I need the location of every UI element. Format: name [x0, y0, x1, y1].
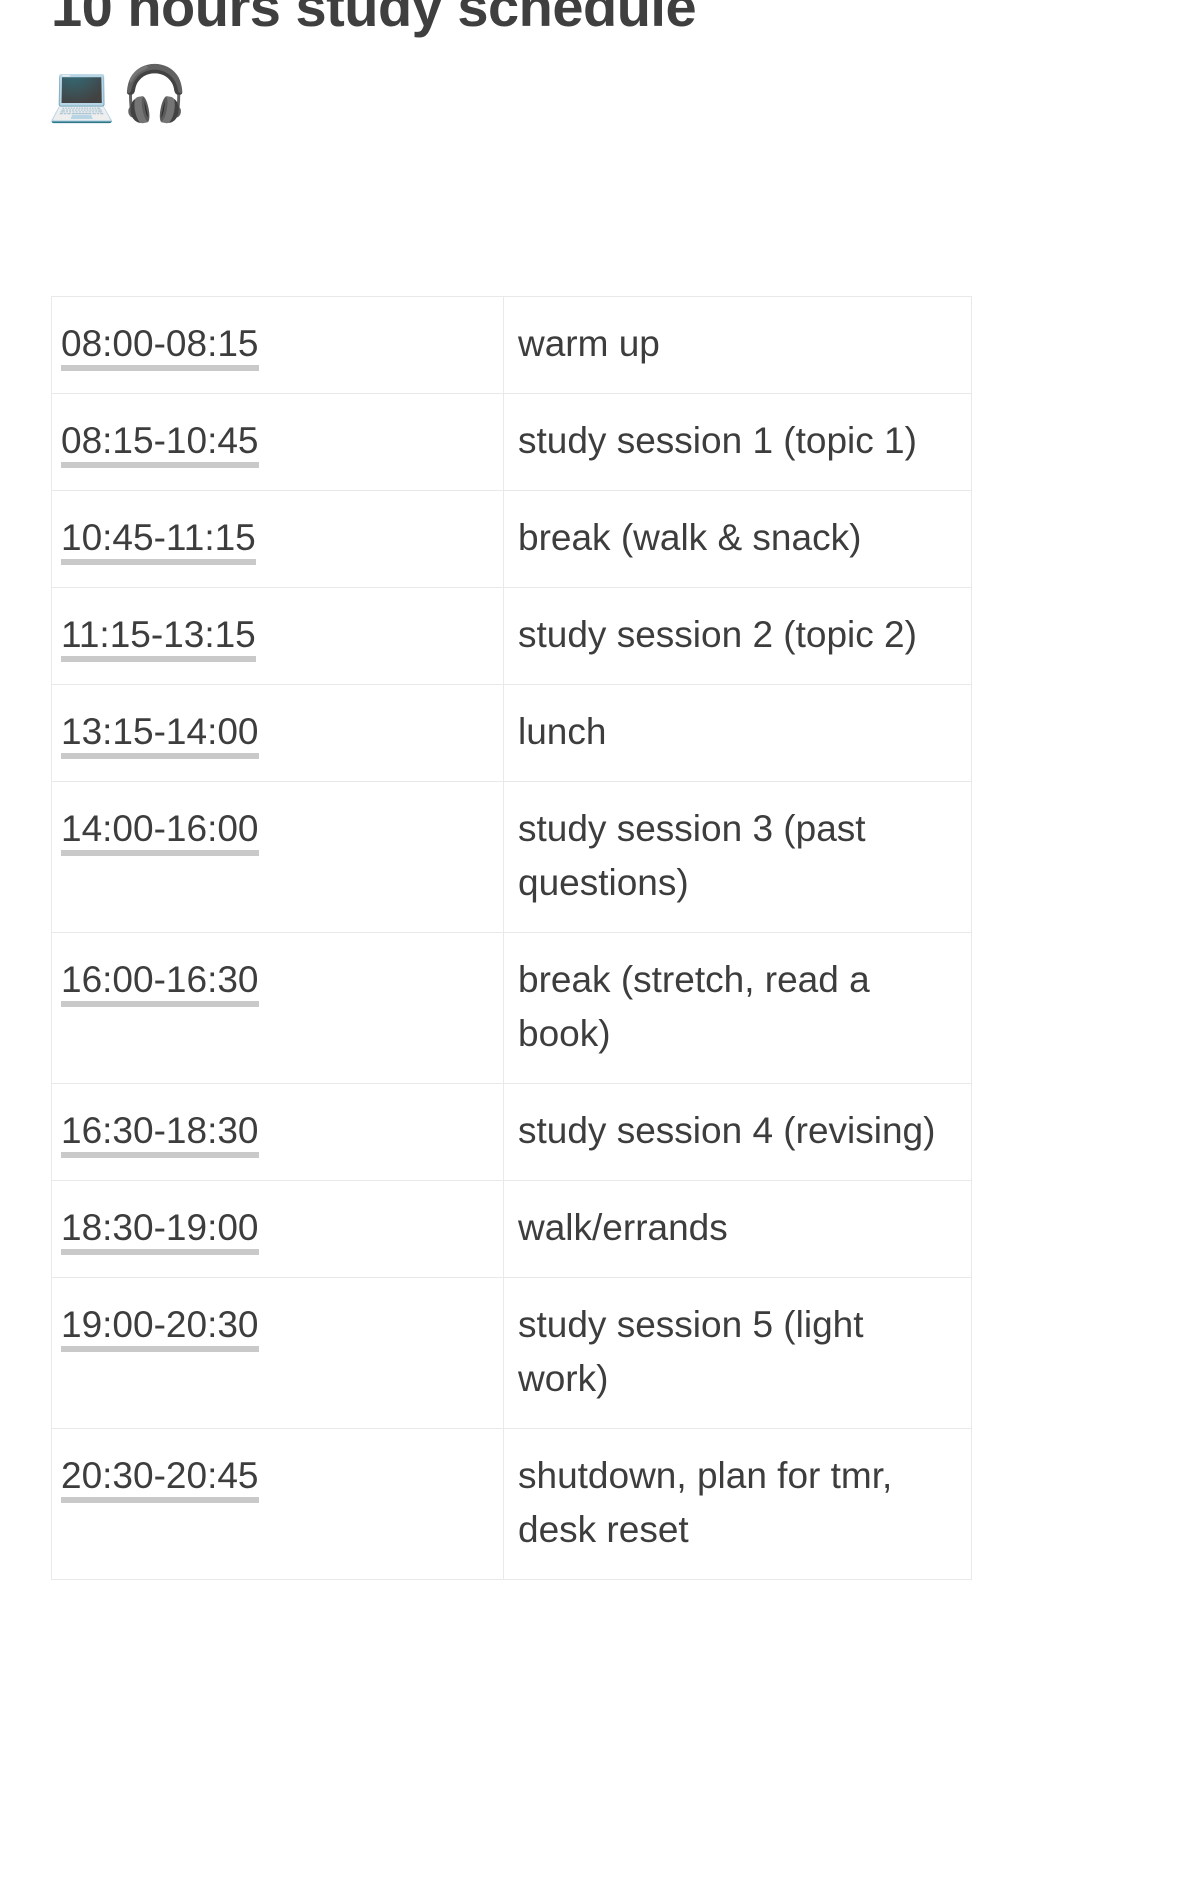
- schedule-time-label: 16:30-18:30: [61, 1110, 259, 1158]
- table-row: 18:30-19:00walk/errands: [52, 1181, 972, 1278]
- schedule-time-label: 16:00-16:30: [61, 959, 259, 1007]
- schedule-activity-cell: study session 1 (topic 1): [504, 394, 972, 491]
- schedule-time-label: 20:30-20:45: [61, 1455, 259, 1503]
- schedule-time-label: 13:15-14:00: [61, 711, 259, 759]
- table-row: 16:30-18:30study session 4 (revising): [52, 1084, 972, 1181]
- schedule-time-cell: 16:30-18:30: [52, 1084, 504, 1181]
- schedule-time-label: 10:45-11:15: [61, 517, 256, 565]
- table-row: 08:15-10:45study session 1 (topic 1): [52, 394, 972, 491]
- schedule-activity-cell: study session 2 (topic 2): [504, 588, 972, 685]
- page-title: 10 hours study schedule: [51, 0, 696, 39]
- table-row: 16:00-16:30break (stretch, read a book): [52, 933, 972, 1084]
- schedule-table-wrap: 08:00-08:15warm up08:15-10:45study sessi…: [51, 296, 971, 1580]
- schedule-activity-cell: study session 5 (light work): [504, 1278, 972, 1429]
- schedule-time-cell: 19:00-20:30: [52, 1278, 504, 1429]
- schedule-time-cell: 18:30-19:00: [52, 1181, 504, 1278]
- schedule-activity-cell: break (walk & snack): [504, 491, 972, 588]
- table-row: 14:00-16:00study session 3 (past questio…: [52, 782, 972, 933]
- schedule-time-label: 19:00-20:30: [61, 1304, 259, 1352]
- schedule-time-cell: 10:45-11:15: [52, 491, 504, 588]
- schedule-time-label: 14:00-16:00: [61, 808, 259, 856]
- table-row: 19:00-20:30study session 5 (light work): [52, 1278, 972, 1429]
- schedule-activity-cell: shutdown, plan for tmr, desk reset: [504, 1429, 972, 1580]
- table-row: 13:15-14:00lunch: [52, 685, 972, 782]
- schedule-activity-cell: break (stretch, read a book): [504, 933, 972, 1084]
- schedule-activity-label: shutdown, plan for tmr, desk reset: [518, 1449, 961, 1557]
- schedule-time-cell: 16:00-16:30: [52, 933, 504, 1084]
- schedule-activity-cell: walk/errands: [504, 1181, 972, 1278]
- schedule-time-cell: 08:15-10:45: [52, 394, 504, 491]
- schedule-activity-label: walk/errands: [518, 1201, 961, 1255]
- schedule-activity-label: break (walk & snack): [518, 511, 961, 565]
- table-row: 11:15-13:15study session 2 (topic 2): [52, 588, 972, 685]
- schedule-time-cell: 08:00-08:15: [52, 297, 504, 394]
- emoji-row: 💻🎧: [48, 62, 195, 126]
- schedule-activity-label: study session 1 (topic 1): [518, 414, 961, 468]
- table-row: 10:45-11:15break (walk & snack): [52, 491, 972, 588]
- schedule-activity-label: lunch: [518, 705, 961, 759]
- schedule-activity-cell: warm up: [504, 297, 972, 394]
- schedule-time-cell: 11:15-13:15: [52, 588, 504, 685]
- laptop-emoji: 💻: [48, 62, 121, 126]
- schedule-activity-cell: study session 4 (revising): [504, 1084, 972, 1181]
- schedule-table: 08:00-08:15warm up08:15-10:45study sessi…: [51, 296, 972, 1580]
- table-row: 08:00-08:15warm up: [52, 297, 972, 394]
- table-row: 20:30-20:45shutdown, plan for tmr, desk …: [52, 1429, 972, 1580]
- schedule-activity-label: study session 4 (revising): [518, 1104, 961, 1158]
- schedule-page: 10 hours study schedule 💻🎧 08:00-08:15wa…: [0, 0, 1196, 1902]
- schedule-time-label: 08:15-10:45: [61, 420, 259, 468]
- headphones-emoji: 🎧: [121, 62, 194, 126]
- schedule-time-label: 18:30-19:00: [61, 1207, 259, 1255]
- schedule-table-body: 08:00-08:15warm up08:15-10:45study sessi…: [52, 297, 972, 1580]
- schedule-activity-label: study session 3 (past questions): [518, 802, 961, 910]
- schedule-time-cell: 13:15-14:00: [52, 685, 504, 782]
- schedule-time-cell: 20:30-20:45: [52, 1429, 504, 1580]
- schedule-time-label: 08:00-08:15: [61, 323, 259, 371]
- schedule-time-label: 11:15-13:15: [61, 614, 256, 662]
- schedule-activity-label: study session 2 (topic 2): [518, 608, 961, 662]
- page-title-clip: 10 hours study schedule: [0, 0, 1196, 50]
- schedule-activity-cell: study session 3 (past questions): [504, 782, 972, 933]
- schedule-activity-label: break (stretch, read a book): [518, 953, 961, 1061]
- schedule-time-cell: 14:00-16:00: [52, 782, 504, 933]
- schedule-activity-label: study session 5 (light work): [518, 1298, 961, 1406]
- schedule-activity-label: warm up: [518, 317, 961, 371]
- schedule-activity-cell: lunch: [504, 685, 972, 782]
